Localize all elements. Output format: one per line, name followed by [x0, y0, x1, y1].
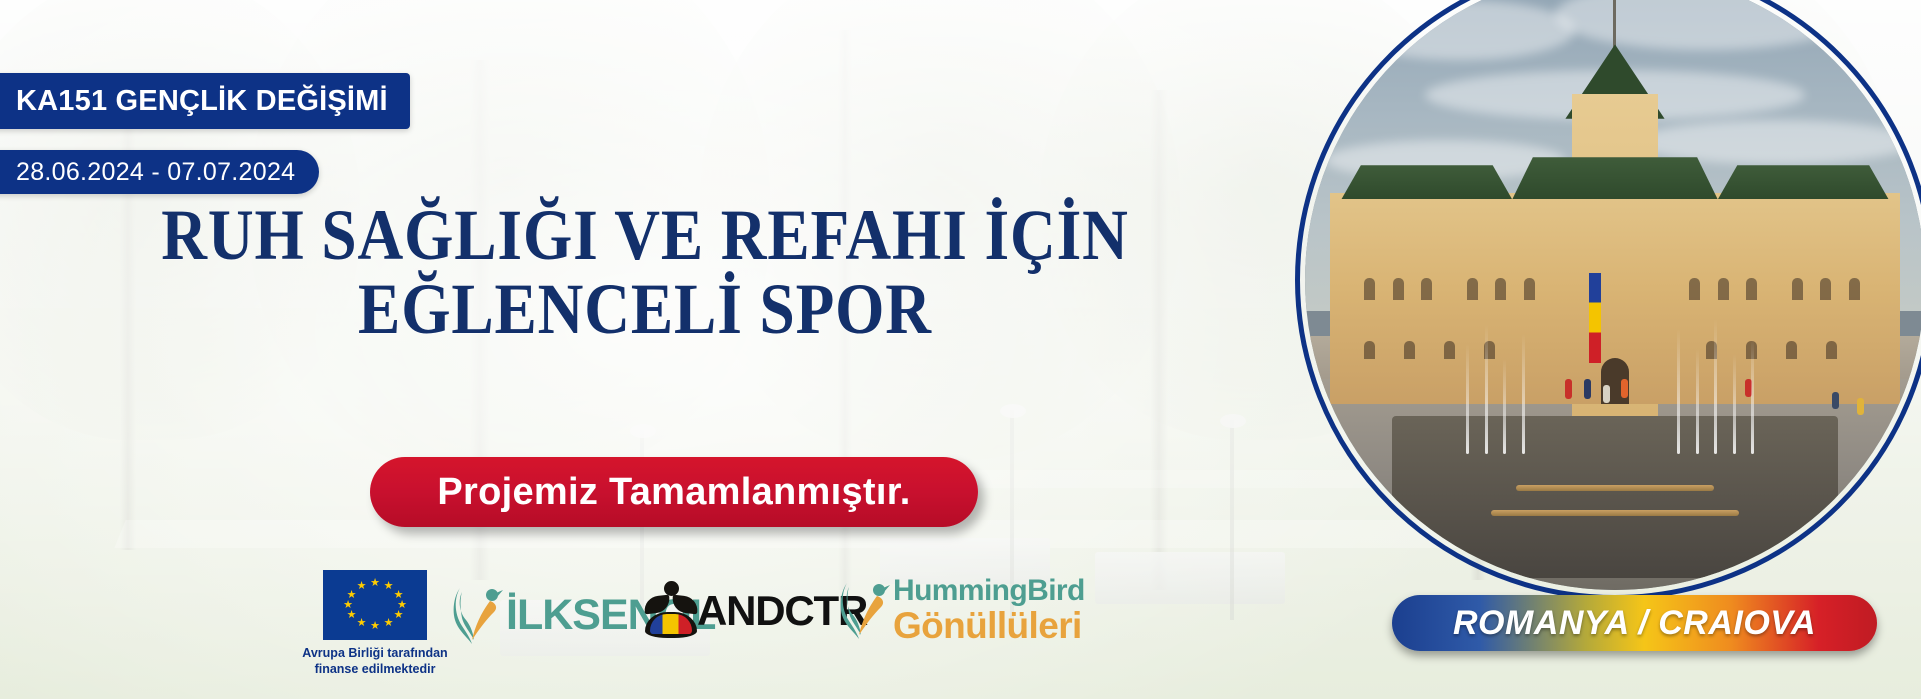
project-banner: KA151 GENÇLİK DEĞİŞİMİ 28.06.2024 - 07.0…: [0, 0, 1921, 699]
headline-line-1: RUH SAĞLIĞI VE REFAHI İÇİN: [161, 195, 1129, 275]
project-status-button[interactable]: Projemiz Tamamlanmıştır.: [370, 457, 978, 527]
fountain-basin: [1392, 416, 1838, 577]
eu-caption-line-1: Avrupa Birliği tarafından: [285, 646, 465, 662]
andctr-logo: ANDCTR: [643, 580, 867, 642]
craiova-city-hall-photo: [1305, 0, 1921, 590]
hummingbird-icon: [450, 584, 504, 646]
eu-funding-caption: Avrupa Birliği tarafından finanse edilme…: [285, 646, 465, 677]
program-badge-label: KA151 GENÇLİK DEĞİŞİMİ: [16, 85, 388, 118]
hummingbird-volunteers-svg: [837, 579, 891, 641]
eu-funding-logo: ★ ★ ★ ★ ★ ★ ★ ★ ★ ★ ★ ★ Avrupa Birliği t…: [285, 570, 465, 677]
hummingbird-svg: [450, 584, 504, 646]
partner-logo-strip: ★ ★ ★ ★ ★ ★ ★ ★ ★ ★ ★ ★ Avrupa Birliği t…: [285, 570, 1145, 680]
date-badge: 28.06.2024 - 07.07.2024: [0, 150, 319, 194]
program-badge: KA151 GENÇLİK DEĞİŞİMİ: [0, 73, 410, 129]
hummingbird-volunteers-icon: [837, 579, 891, 641]
andctr-dome-icon: [643, 580, 699, 642]
project-status-label: Projemiz Tamamlanmıştır.: [437, 471, 910, 514]
location-badge: ROMANYA / CRAIOVA: [1392, 595, 1877, 651]
eu-flag-icon: ★ ★ ★ ★ ★ ★ ★ ★ ★ ★ ★ ★: [323, 570, 427, 640]
eu-caption-line-2: finanse edilmektedir: [285, 662, 465, 678]
craiova-photo-circle: [1295, 0, 1921, 600]
hummingbird-wordmark-line-2: Gönüllüleri: [893, 607, 1085, 644]
hummingbird-wordmark-line-1: HummingBird: [893, 576, 1085, 606]
city-hall-building: [1330, 193, 1900, 404]
headline-line-2: EĞLENCELİ SPOR: [130, 272, 1160, 346]
hummingbird-gonulluleri-logo: HummingBird Gönüllüleri: [837, 576, 1085, 644]
date-badge-label: 28.06.2024 - 07.07.2024: [16, 158, 295, 187]
location-badge-label: ROMANYA / CRAIOVA: [1453, 604, 1816, 643]
headline: RUH SAĞLIĞI VE REFAHI İÇİN EĞLENCELİ SPO…: [130, 198, 1160, 346]
